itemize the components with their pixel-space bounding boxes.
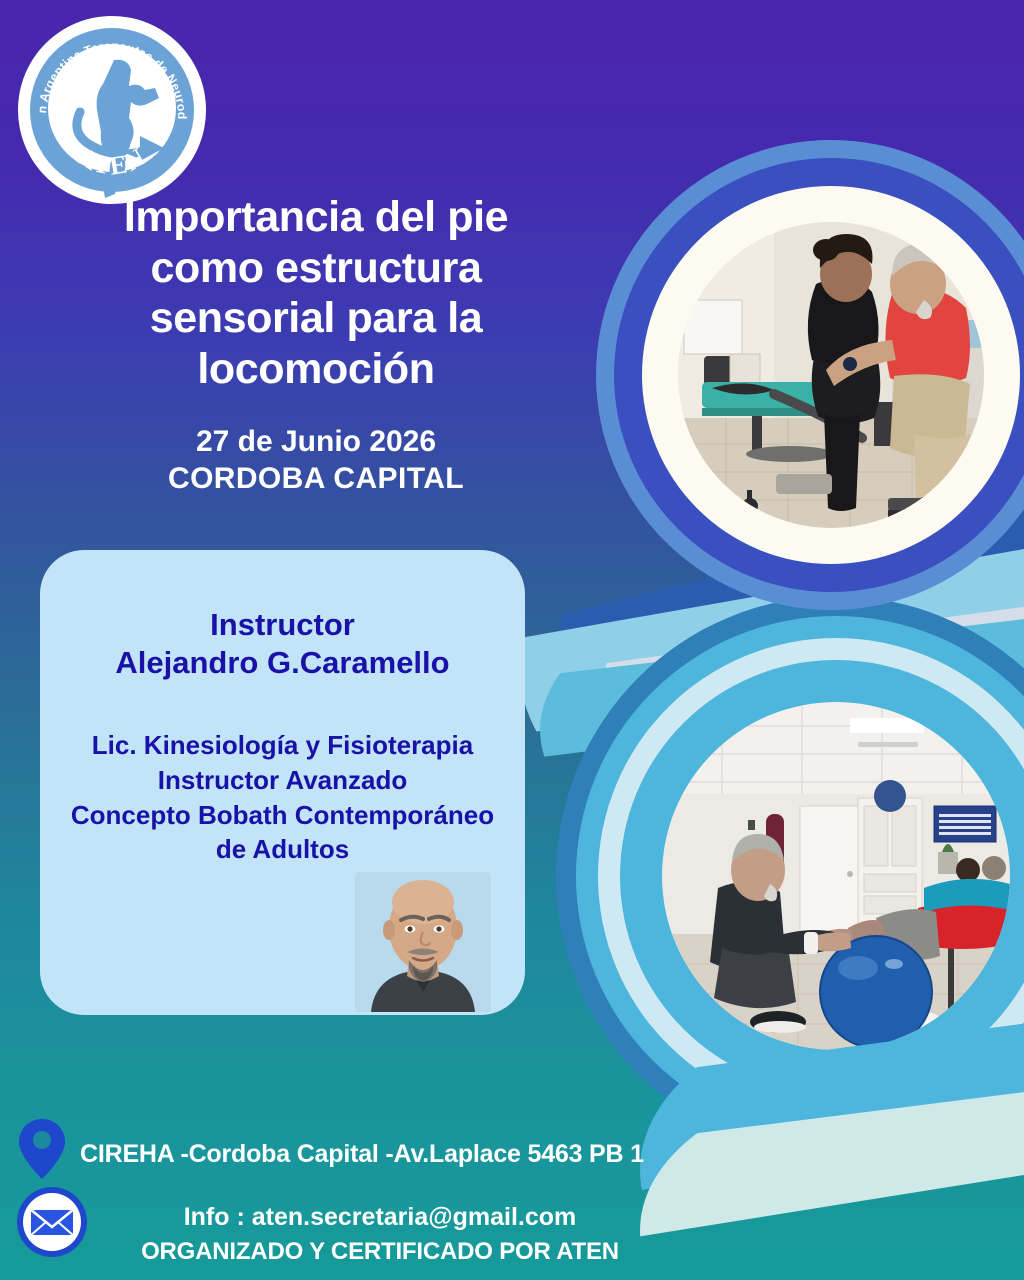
poster-title: Importancia del pie como estructura sens…: [46, 192, 586, 395]
photo-therapy-exercise-ball: [662, 702, 1010, 1050]
decor-swoosh-mint: [640, 1070, 1024, 1280]
credential-line-1: Lic. Kinesiología y Fisioterapia: [40, 728, 525, 763]
email-icon: [16, 1186, 88, 1258]
instructor-portrait: [355, 872, 491, 1012]
photo-therapy-standing-patient: [678, 222, 984, 528]
instructor-heading: Instructor Alejandro G.Caramello: [40, 606, 525, 682]
credential-line-2: Instructor Avanzado: [40, 763, 525, 798]
event-city: CORDOBA CAPITAL: [46, 461, 586, 498]
event-date: 27 de Junio 2026: [46, 424, 586, 461]
event-poster: Asociación Argentina Terapeutas de Neuro…: [0, 0, 1024, 1280]
event-date-location: 27 de Junio 2026 CORDOBA CAPITAL: [46, 424, 586, 497]
title-line-2: como estructura: [46, 243, 586, 294]
logo-graphic: Asociación Argentina Terapeutas de Neuro…: [18, 16, 206, 204]
title-line-3: sensorial para la: [46, 293, 586, 344]
instructor-role-label: Instructor: [40, 606, 525, 644]
contact-email: Info : aten.secretaria@gmail.com: [100, 1203, 660, 1232]
venue-address: CIREHA -Cordoba Capital -Av.Laplace 5463…: [80, 1140, 700, 1169]
location-pin-icon: [18, 1118, 66, 1180]
instructor-name: Alejandro G.Caramello: [40, 644, 525, 682]
title-line-4: locomoción: [46, 344, 586, 395]
title-line-1: Importancia del pie: [46, 192, 586, 243]
organizer-note: ORGANIZADO Y CERTIFICADO POR ATEN: [100, 1238, 660, 1266]
instructor-credentials: Lic. Kinesiología y Fisioterapia Instruc…: [40, 728, 525, 867]
instructor-card: Instructor Alejandro G.Caramello Lic. Ki…: [40, 550, 525, 1015]
credential-line-3: Concepto Bobath Contemporáneo: [40, 798, 525, 833]
aten-logo: Asociación Argentina Terapeutas de Neuro…: [18, 16, 206, 204]
credential-line-4: de Adultos: [40, 832, 525, 867]
